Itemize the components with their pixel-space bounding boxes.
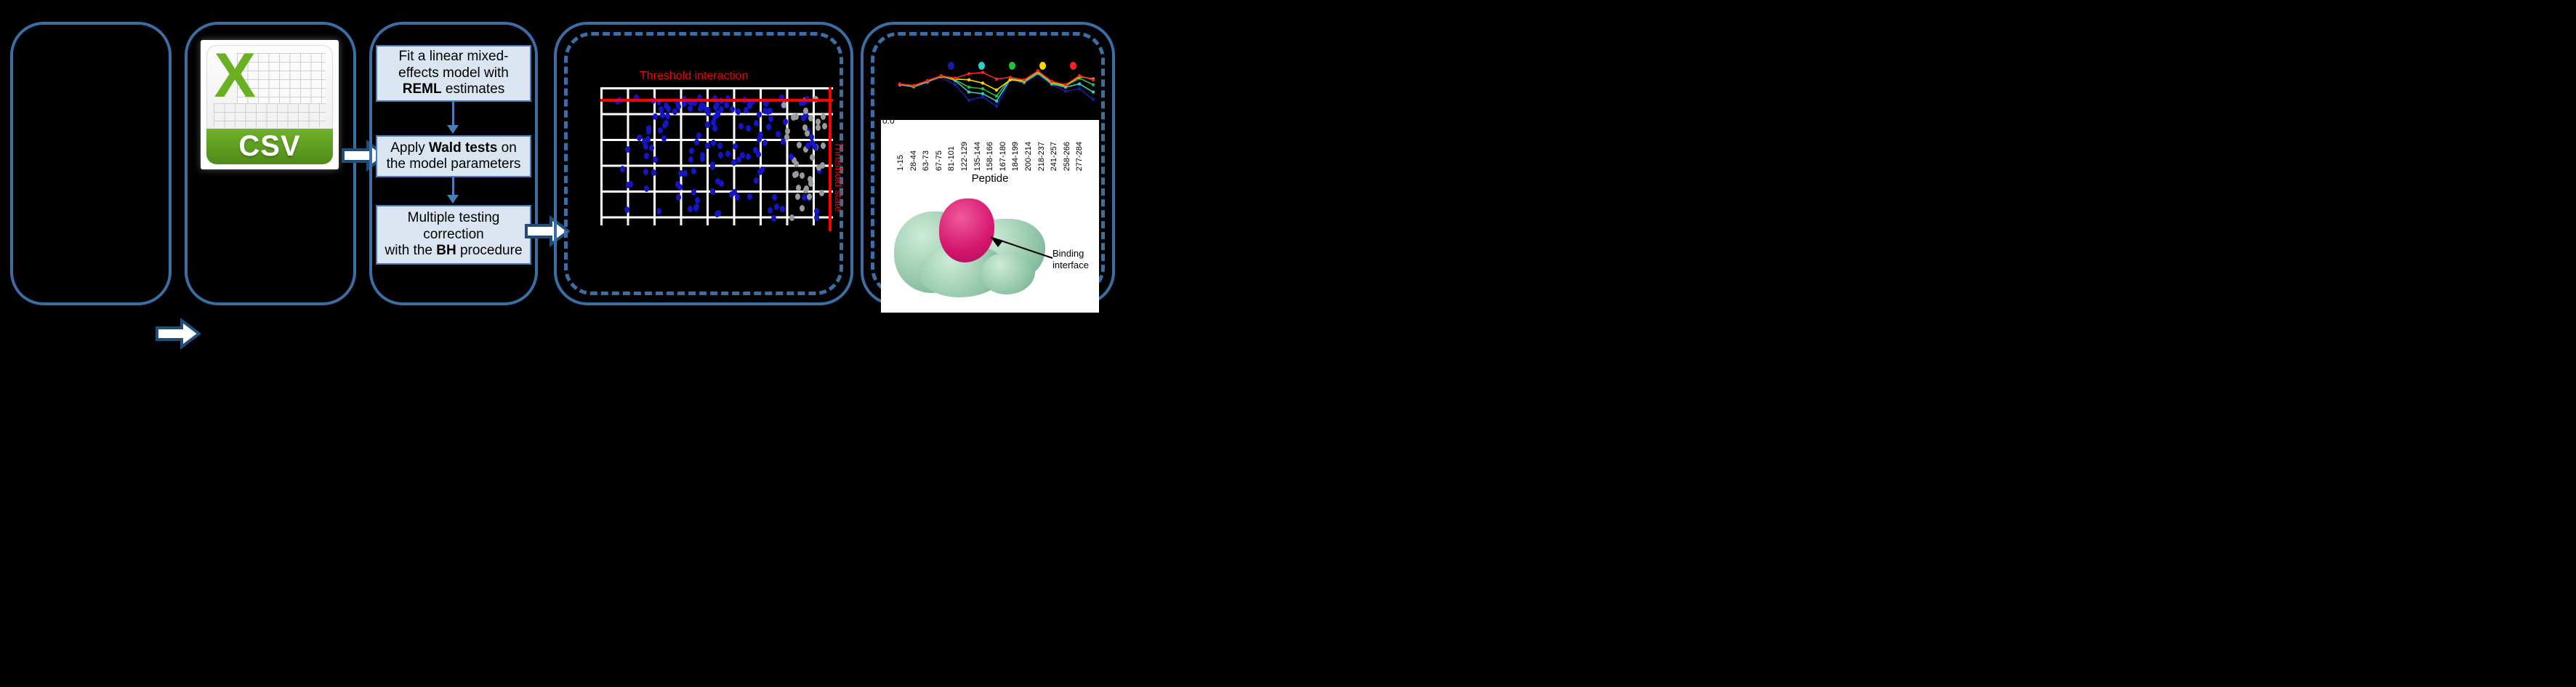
scatter-point — [804, 185, 809, 192]
series-point — [1023, 79, 1026, 81]
csv-label-band: CSV — [206, 129, 333, 164]
scatter-point — [805, 142, 810, 149]
peptide-line-chart — [895, 62, 1099, 113]
peptide-structure-card: 0.0 1-1528-4463-7367-7581-101122-129135-… — [881, 120, 1099, 313]
scatter-point — [757, 136, 762, 142]
peptide-tick-label: 158-166 — [986, 142, 994, 171]
scatter-point — [665, 113, 670, 119]
scatter-point — [705, 142, 710, 149]
series-point — [1064, 89, 1067, 92]
series-point — [1092, 97, 1095, 100]
series-point — [1078, 87, 1081, 90]
scatter-point — [677, 184, 683, 190]
peptide-series-svg — [895, 62, 1099, 113]
chart-y-tick: 0.0 — [882, 120, 895, 126]
series-point — [954, 76, 957, 79]
series-point — [912, 84, 915, 87]
binding-interface-label: Binding interface — [1052, 248, 1089, 272]
peptide-tick-label: 28-44 — [909, 150, 918, 171]
peptide-tick-label: 258-266 — [1063, 142, 1071, 171]
step-box-wald-text: Apply Wald tests on the model parameters — [387, 140, 521, 173]
series-point — [1078, 82, 1081, 85]
flow-connector-1 — [452, 102, 454, 126]
peptide-tick-label: 277-284 — [1075, 142, 1084, 171]
bh-line2: correction — [423, 227, 483, 242]
series-point — [1092, 79, 1095, 81]
peptide-tick-label: 122-129 — [960, 142, 969, 171]
step-box-bh-text: Multiple testing correction with the BH … — [385, 210, 522, 259]
scatter-point — [762, 140, 768, 146]
series-point — [926, 79, 929, 82]
wald-line2: the model parameters — [387, 156, 521, 172]
series-point — [967, 99, 970, 102]
scatter-point — [805, 130, 810, 137]
flow-arrow-tip-2 — [447, 195, 459, 204]
series-point — [898, 82, 901, 85]
wald-post: on — [497, 140, 516, 156]
series-point — [981, 71, 984, 74]
peptide-tick-label: 218-237 — [1037, 142, 1046, 171]
scatter-point — [746, 125, 751, 132]
model-bold-reml: REML — [403, 81, 442, 97]
binding-label-line2: interface — [1052, 260, 1089, 271]
peptide-tick-label: 200-214 — [1024, 142, 1033, 171]
scatter-point — [796, 185, 801, 191]
series-point — [995, 89, 998, 92]
scatter-point — [766, 124, 771, 130]
peptide-tick-label: 135-144 — [973, 142, 982, 171]
scatter-point — [642, 138, 647, 145]
scatter-point — [746, 153, 751, 160]
scatter-point — [653, 113, 658, 120]
block-arrow-right-1 — [156, 318, 201, 350]
series-point — [995, 95, 998, 97]
series-point — [1092, 83, 1095, 86]
series-point — [1078, 74, 1081, 77]
excel-x-glyph: X — [214, 50, 251, 103]
threshold-interaction-line — [600, 99, 833, 102]
scatter-point — [660, 112, 665, 118]
scatter-point — [814, 208, 819, 214]
bh-post: procedure — [456, 243, 523, 258]
legend-dot-red — [1070, 62, 1076, 70]
scatter-point — [659, 106, 664, 113]
peptide-tick-label: 63-73 — [922, 150, 930, 171]
peptide-axis-title: Peptide — [881, 172, 1099, 185]
scatter-point — [666, 105, 671, 112]
step-box-bh[interactable]: Multiple testing correction with the BH … — [376, 205, 531, 265]
step-box-model-text: Fit a linear mixed- effects model with R… — [398, 49, 509, 97]
scatter-point — [822, 123, 827, 129]
series-point — [967, 90, 970, 93]
series-point — [954, 83, 957, 86]
series-point — [1064, 83, 1067, 86]
legend-dot-green — [1009, 62, 1015, 70]
model-line1: Fit a linear mixed- — [398, 49, 508, 64]
scatter-point — [800, 205, 805, 212]
series-point — [1092, 90, 1095, 93]
series-point — [1009, 76, 1012, 79]
wald-bold: Wald tests — [429, 140, 497, 156]
scatter-point — [756, 151, 761, 158]
scatter-plot-area — [600, 87, 833, 225]
series-point — [967, 86, 970, 89]
scatter-point — [691, 189, 696, 196]
scatter-point — [688, 105, 693, 112]
scatter-point — [691, 168, 696, 174]
threshold-state-label: Threshold state — [833, 142, 845, 212]
scatter-point — [757, 111, 762, 118]
scatter-point — [774, 204, 779, 210]
scatter-point — [700, 156, 705, 162]
model-line3: estimates — [442, 81, 505, 97]
scatter-point — [711, 140, 716, 146]
scatter-plot — [600, 87, 833, 225]
scatter-point — [678, 170, 683, 177]
peptide-tick-label: 241-257 — [1050, 142, 1058, 171]
peptide-axis-ticks: 1-1528-4463-7367-7581-101122-129135-1441… — [894, 123, 1086, 171]
bh-bold: BH — [436, 243, 456, 258]
bh-line1: Multiple testing — [408, 210, 500, 225]
series-point — [995, 105, 998, 108]
scatter-point — [689, 148, 694, 154]
flow-arrow-tip-1 — [447, 125, 459, 134]
scatter-point — [719, 180, 724, 187]
scatter-point — [696, 132, 701, 139]
scatter-point — [791, 114, 796, 121]
scatter-point — [810, 140, 815, 146]
step-box-wald[interactable]: Apply Wald tests on the model parameters — [376, 135, 531, 177]
series-point — [1037, 69, 1039, 72]
scatter-point — [744, 107, 749, 113]
model-line2: effects model with — [398, 65, 509, 81]
scatter-point — [644, 185, 649, 192]
panel-data-collection — [10, 22, 172, 305]
scatter-point — [772, 194, 777, 201]
scatter-point — [802, 194, 807, 201]
scatter-point — [731, 159, 736, 166]
scatter-point — [662, 122, 667, 129]
scatter-point — [651, 169, 656, 176]
scatter-point — [676, 194, 681, 201]
peptide-tick-label: 81-101 — [947, 146, 956, 171]
bh-pre: with the — [385, 243, 436, 258]
scatter-point — [821, 113, 826, 120]
scatter-point — [712, 114, 717, 121]
scatter-point — [776, 131, 781, 137]
scatter-point — [730, 106, 735, 113]
threshold-state-line — [829, 87, 832, 231]
series-point — [940, 74, 943, 77]
series-point — [967, 79, 970, 81]
scatter-point — [643, 169, 648, 175]
series-point — [967, 72, 970, 75]
series-point — [1050, 80, 1053, 83]
scatter-point — [747, 193, 752, 200]
scatter-point — [797, 142, 802, 148]
scatter-point — [646, 125, 651, 132]
csv-icon-body: X CSV — [206, 45, 333, 164]
scatter-point — [781, 102, 786, 108]
peptide-tick-label: 184-199 — [1011, 142, 1020, 171]
series-point — [995, 77, 998, 80]
legend-dot-darkblue — [948, 62, 954, 70]
series-point — [981, 81, 984, 84]
scatter-point — [816, 118, 821, 125]
scatter-point — [783, 118, 788, 125]
csv-label: CSV — [238, 130, 300, 163]
series-point — [995, 100, 998, 103]
peptide-tick-label: 1-15 — [896, 155, 905, 171]
flow-connector-2 — [452, 177, 454, 196]
series-point — [981, 87, 984, 90]
legend-dot-yellow — [1039, 62, 1046, 70]
scatter-point — [789, 153, 794, 160]
scatter-point — [693, 204, 699, 211]
binding-label-line1: Binding — [1052, 248, 1089, 260]
series-point — [981, 95, 984, 98]
scatter-point — [768, 108, 773, 114]
csv-file-icon[interactable]: X CSV — [201, 40, 339, 169]
scatter-point — [625, 146, 630, 153]
legend-dot-cyan — [978, 62, 985, 70]
scatter-point — [808, 115, 813, 121]
scatter-point — [624, 206, 629, 213]
wald-pre: Apply — [390, 140, 429, 156]
binding-interface-arrow — [989, 236, 1055, 261]
scatter-point — [637, 134, 642, 141]
scatter-title: Threshold interaction — [640, 70, 748, 83]
peptide-tick-label: 167-180 — [999, 142, 1007, 171]
peptide-tick-label: 67-75 — [935, 150, 943, 171]
scatter-point — [732, 189, 737, 196]
scatter-point — [803, 108, 808, 114]
step-box-model[interactable]: Fit a linear mixed- effects model with R… — [376, 45, 531, 102]
scatter-point — [738, 123, 744, 129]
series-point — [981, 92, 984, 95]
